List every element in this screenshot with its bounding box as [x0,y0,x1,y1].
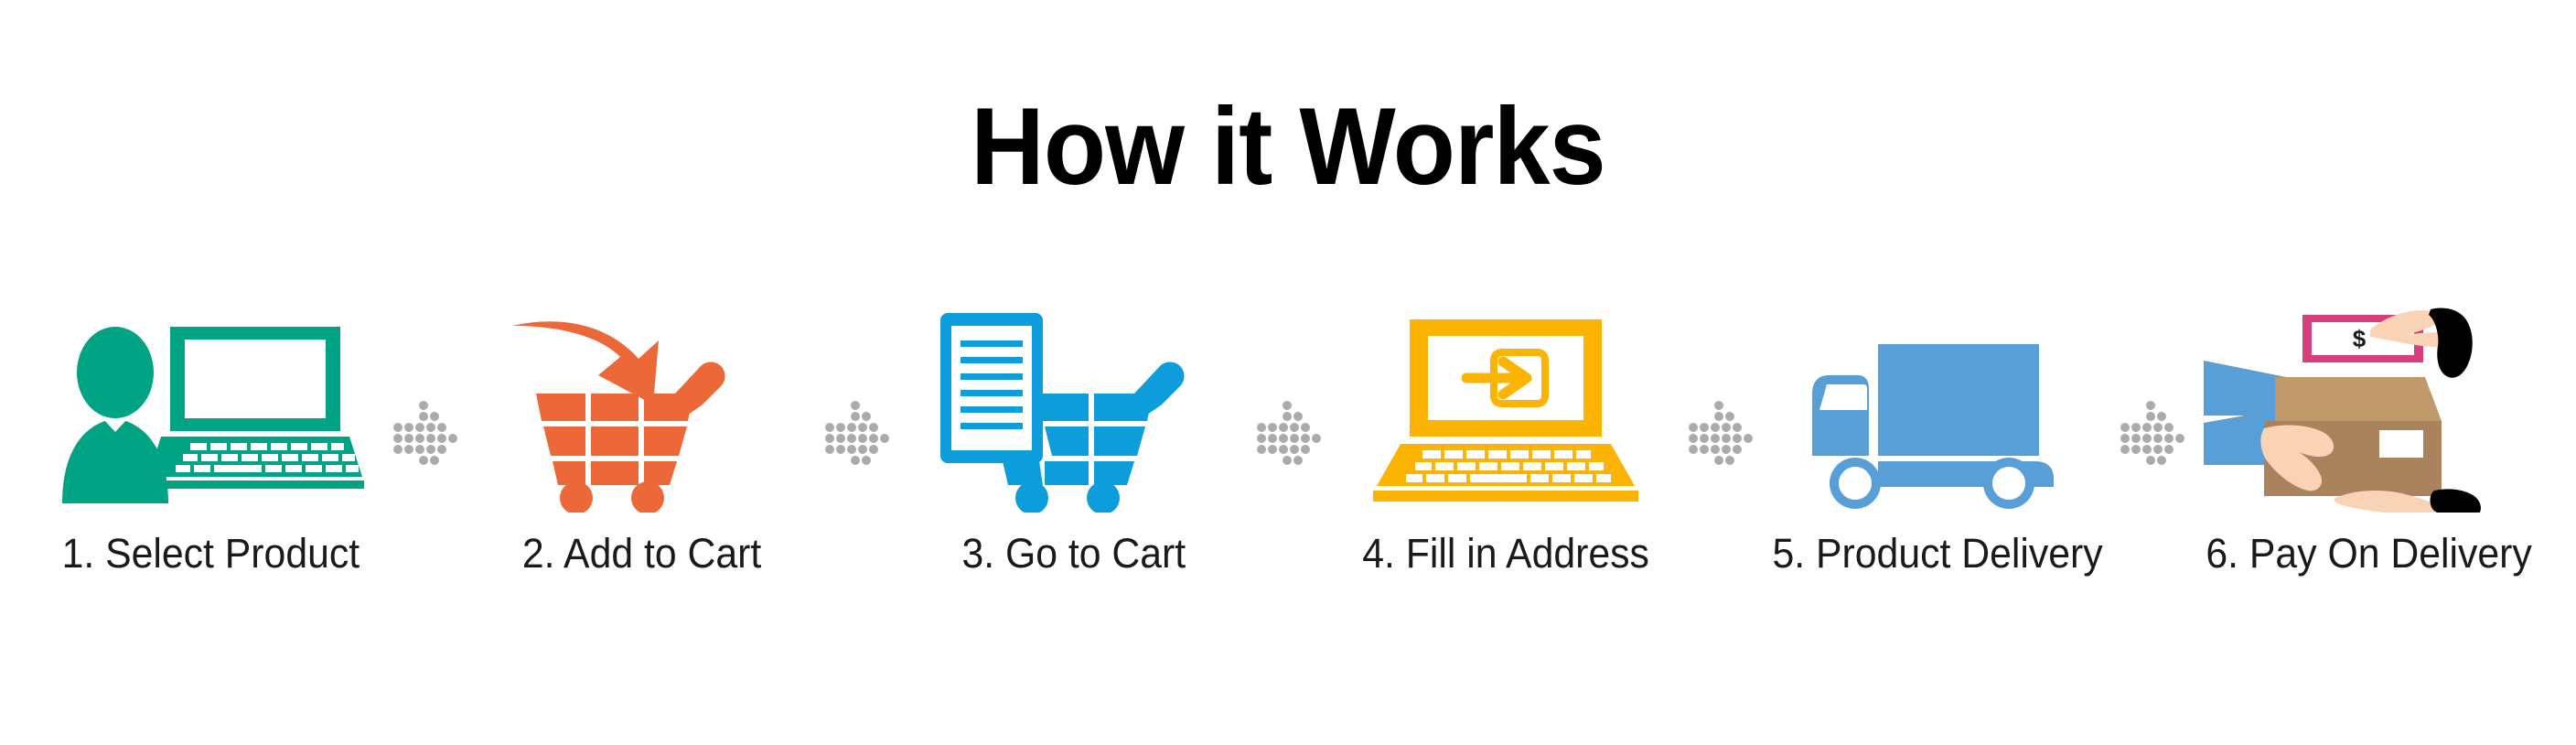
step-4-fill-in-address[interactable]: 4. Fill in Address [1332,302,1680,632]
dollar-symbol: $ [2353,325,2367,352]
step-2-label: 2. Add to Cart [522,533,761,574]
left-sleeve-upper [2204,361,2286,416]
steps-row: 1. Select Product [37,302,2543,632]
step-5-label: 5. Product Delivery [1772,533,2102,574]
separator-1 [384,302,468,632]
step-5-product-delivery[interactable]: 5. Product Delivery [1764,302,2111,632]
step-6-label: 6. Pay On Delivery [2206,533,2532,574]
dotted-arrow-right-icon [2120,401,2186,467]
laptop-login-icon [1364,316,1648,513]
step-5-icon-wrap [1764,302,2111,513]
bottom-sleeve [2431,489,2481,513]
step-3-go-to-cart[interactable]: 3. Go to Cart [900,302,1248,632]
box-top [2275,377,2442,421]
delivery-truck-icon [1787,339,2088,513]
dotted-arrow-right-icon [393,401,459,467]
box-label [2379,430,2423,458]
how-it-works-infographic: How it Works [0,0,2576,745]
step-2-icon-wrap [468,302,816,513]
separator-3 [1248,302,1332,632]
cart-arrow-down-icon [505,309,779,513]
step-6-icon-wrap: $ [2195,302,2543,513]
step-4-icon-wrap [1332,302,1680,513]
person-laptop-icon [55,316,366,513]
page-title: How it Works [91,92,2486,201]
step-3-icon-wrap [900,302,1248,513]
separator-4 [1680,302,1764,632]
document-cart-icon [937,309,1211,513]
step-1-icon-wrap [37,302,384,513]
dotted-arrow-right-icon [1689,401,1755,467]
separator-2 [816,302,900,632]
dotted-arrow-right-icon [1257,401,1323,467]
hands-box-cash-icon: $ [2200,302,2538,513]
step-6-pay-on-delivery[interactable]: $ [2195,302,2543,632]
step-2-add-to-cart[interactable]: 2. Add to Cart [468,302,816,632]
step-1-select-product[interactable]: 1. Select Product [37,302,384,632]
separator-5 [2111,302,2195,632]
dotted-arrow-right-icon [825,401,891,467]
step-1-label: 1. Select Product [61,533,360,574]
step-4-label: 4. Fill in Address [1362,533,1649,574]
step-3-label: 3. Go to Cart [962,533,1186,574]
